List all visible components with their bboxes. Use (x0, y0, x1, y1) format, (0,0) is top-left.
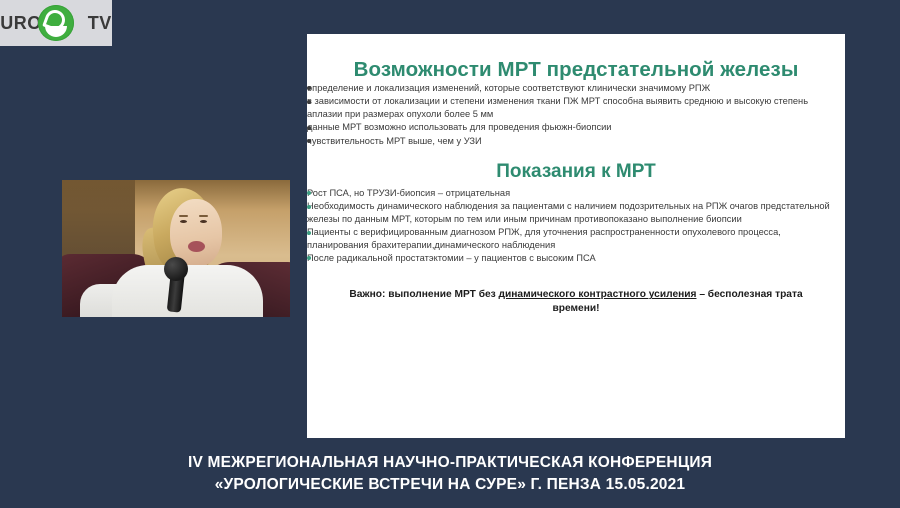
list-item-text: чувствительность МРТ выше, чем у УЗИ (307, 135, 845, 147)
slide-bullet-list-capabilities: определение и локализация изменений, кот… (307, 82, 845, 147)
list-item-text: в зависимости от локализации и степени и… (307, 95, 845, 120)
list-item: Необходимость динамического наблюдения з… (307, 200, 845, 225)
list-item: Пациенты с верифицированным диагнозом РП… (307, 226, 845, 251)
list-item: чувствительность МРТ выше, чем у УЗИ (307, 135, 845, 147)
bullet-dot-icon (307, 126, 311, 130)
bullet-dot-icon (307, 205, 311, 209)
list-item-text: определение и локализация изменений, кот… (307, 82, 845, 94)
channel-logo: URO TV (4, 4, 108, 42)
webcam-speaker-brow-left (179, 215, 188, 217)
logo-text-right: TV (88, 14, 112, 32)
list-item: Рост ПСА, но ТРУЗИ-биопсия – отрицательн… (307, 187, 845, 199)
list-item-text: Пациенты с верифицированным диагнозом РП… (307, 226, 845, 251)
bullet-dot-icon (307, 100, 311, 104)
important-underlined: динамического контрастного усиления (499, 289, 697, 300)
caption-line-2: «УРОЛОГИЧЕСКИЕ ВСТРЕЧИ НА СУРЕ» Г. ПЕНЗА… (215, 474, 686, 496)
webcam-speaker-eye-left (180, 220, 187, 223)
list-item: данные МРТ возможно использовать для про… (307, 121, 845, 133)
list-item: в зависимости от локализации и степени и… (307, 95, 845, 120)
list-item: После радикальной простатэктомии – у пац… (307, 252, 845, 264)
bullet-dot-icon (307, 139, 311, 143)
slide-subtitle: Показания к МРТ (307, 161, 845, 183)
list-item-text: Рост ПСА, но ТРУЗИ-биопсия – отрицательн… (307, 187, 845, 199)
list-item-text: Необходимость динамического наблюдения з… (307, 200, 845, 225)
speaker-webcam-video (62, 180, 290, 317)
list-item-text: данные МРТ возможно использовать для про… (307, 121, 845, 133)
slide-important-note: Важно: выполнение МРТ без динамического … (343, 288, 809, 316)
leaf-circle-logo-icon (38, 5, 74, 41)
caption-line-1: IV МЕЖРЕГИОНАЛЬНАЯ НАУЧНО-ПРАКТИЧЕСКАЯ К… (188, 452, 712, 474)
list-item: определение и локализация изменений, кот… (307, 82, 845, 94)
webcam-speaker-mouth (188, 241, 205, 252)
slide-bullet-list-indications: Рост ПСА, но ТРУЗИ-биопсия – отрицательн… (307, 187, 845, 264)
bullet-dot-icon (307, 231, 311, 235)
broadcast-stage: URO TV Возможности МРТ предстательной же… (0, 0, 900, 508)
presentation-slide: Возможности МРТ предстательной железы оп… (307, 34, 845, 438)
list-item-text: После радикальной простатэктомии – у пац… (307, 252, 845, 264)
webcam-speaker-brow-right (199, 215, 208, 217)
microphone-icon (164, 257, 188, 281)
webcam-speaker-coat (112, 265, 262, 317)
webcam-speaker-eye-right (200, 220, 207, 223)
slide-title: Возможности МРТ предстательной железы (307, 58, 845, 82)
channel-logo-bar: URO TV (0, 0, 112, 46)
logo-text-left: URO (0, 14, 42, 32)
conference-caption-bar: IV МЕЖРЕГИОНАЛЬНАЯ НАУЧНО-ПРАКТИЧЕСКАЯ К… (0, 440, 900, 508)
important-prefix: Важно: выполнение МРТ без (349, 289, 498, 300)
webcam-background-shadow (62, 180, 135, 262)
